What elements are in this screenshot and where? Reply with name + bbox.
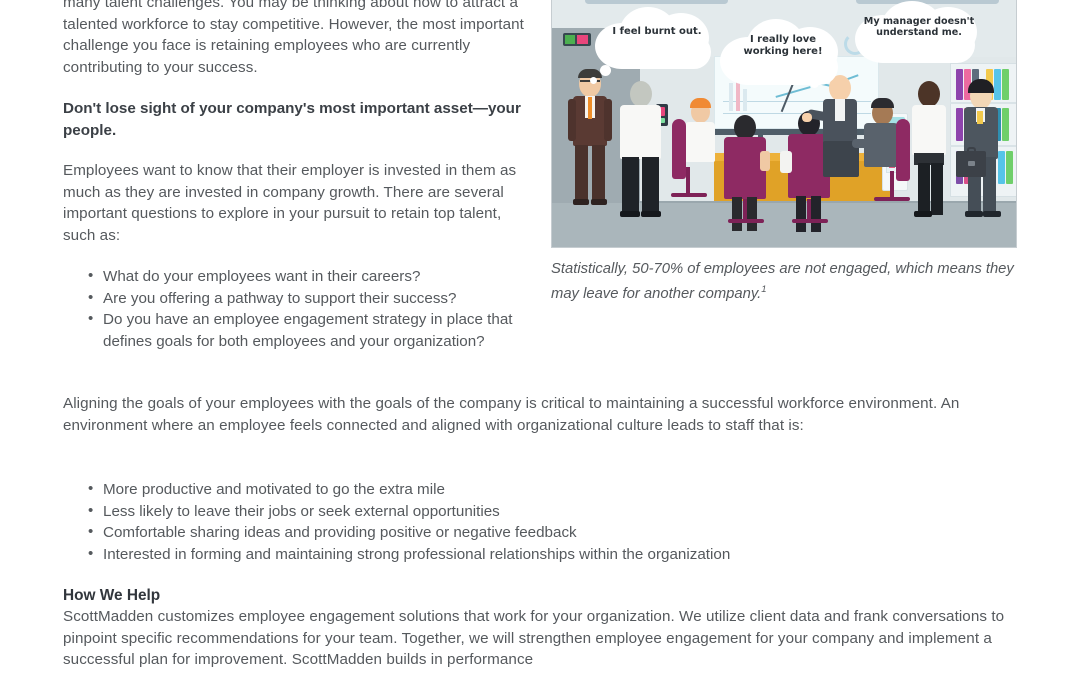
- briefcase-icon: [956, 151, 986, 177]
- list-item: Interested in forming and maintaining st…: [86, 544, 986, 566]
- thought-bubble-text: I feel burnt out.: [595, 26, 719, 38]
- office-chair: [896, 119, 910, 181]
- person-head: [872, 101, 893, 125]
- question-bullet-list: What do your employees want in their car…: [86, 266, 546, 352]
- list-item: Comfortable sharing ideas and providing …: [86, 522, 986, 544]
- thought-puff: [590, 77, 597, 84]
- person-head: [970, 83, 992, 109]
- bold-lead-statement: Don't lose sight of your company's most …: [63, 98, 533, 141]
- thought-puff: [810, 79, 819, 88]
- person-torso: [685, 122, 715, 162]
- thought-bubble-burnt-out: [595, 7, 719, 69]
- paragraph-how-we-help: ScottMadden customizes employee engageme…: [63, 606, 1018, 671]
- thought-puff: [600, 65, 611, 76]
- footnote-marker: 1: [761, 284, 766, 295]
- necktie-icon: [588, 97, 592, 119]
- staff-bullet-list: More productive and motivated to go the …: [86, 479, 986, 565]
- wall-sign-icon: [563, 33, 591, 46]
- list-item: More productive and motivated to go the …: [86, 479, 986, 501]
- person-torso: [620, 105, 661, 159]
- section-heading-how-we-help: How We Help: [63, 586, 160, 606]
- paragraph-aligning-goals: Aligning the goals of your employees wit…: [63, 393, 1018, 436]
- list-item: Less likely to leave their jobs or seek …: [86, 501, 986, 523]
- thought-bubble-text: I really love working here!: [720, 34, 846, 57]
- document-page: many talent challenges. You may be think…: [0, 0, 1080, 675]
- person-head: [918, 81, 940, 107]
- person-torso: [912, 105, 946, 155]
- paragraph-employees-want: Employees want to know that their employ…: [63, 160, 533, 246]
- office-chair: [672, 119, 686, 179]
- list-item: Do you have an employee engagement strat…: [86, 309, 546, 352]
- thought-bubble-text: My manager doesn't understand me.: [855, 16, 983, 38]
- office-illustration: I feel burnt out. I really love working …: [551, 0, 1017, 248]
- paragraph-continuation: many talent challenges. You may be think…: [63, 0, 533, 78]
- person-head: [630, 81, 652, 107]
- list-item: Are you offering a pathway to support th…: [86, 288, 546, 310]
- ceiling-light-icon: [585, 0, 728, 4]
- figure-caption: Statistically, 50-70% of employees are n…: [551, 259, 1021, 304]
- figure-illustration-wrapper: I feel burnt out. I really love working …: [551, 0, 1017, 248]
- person-head: [579, 71, 601, 97]
- list-item: What do your employees want in their car…: [86, 266, 546, 288]
- person-head: [691, 101, 710, 123]
